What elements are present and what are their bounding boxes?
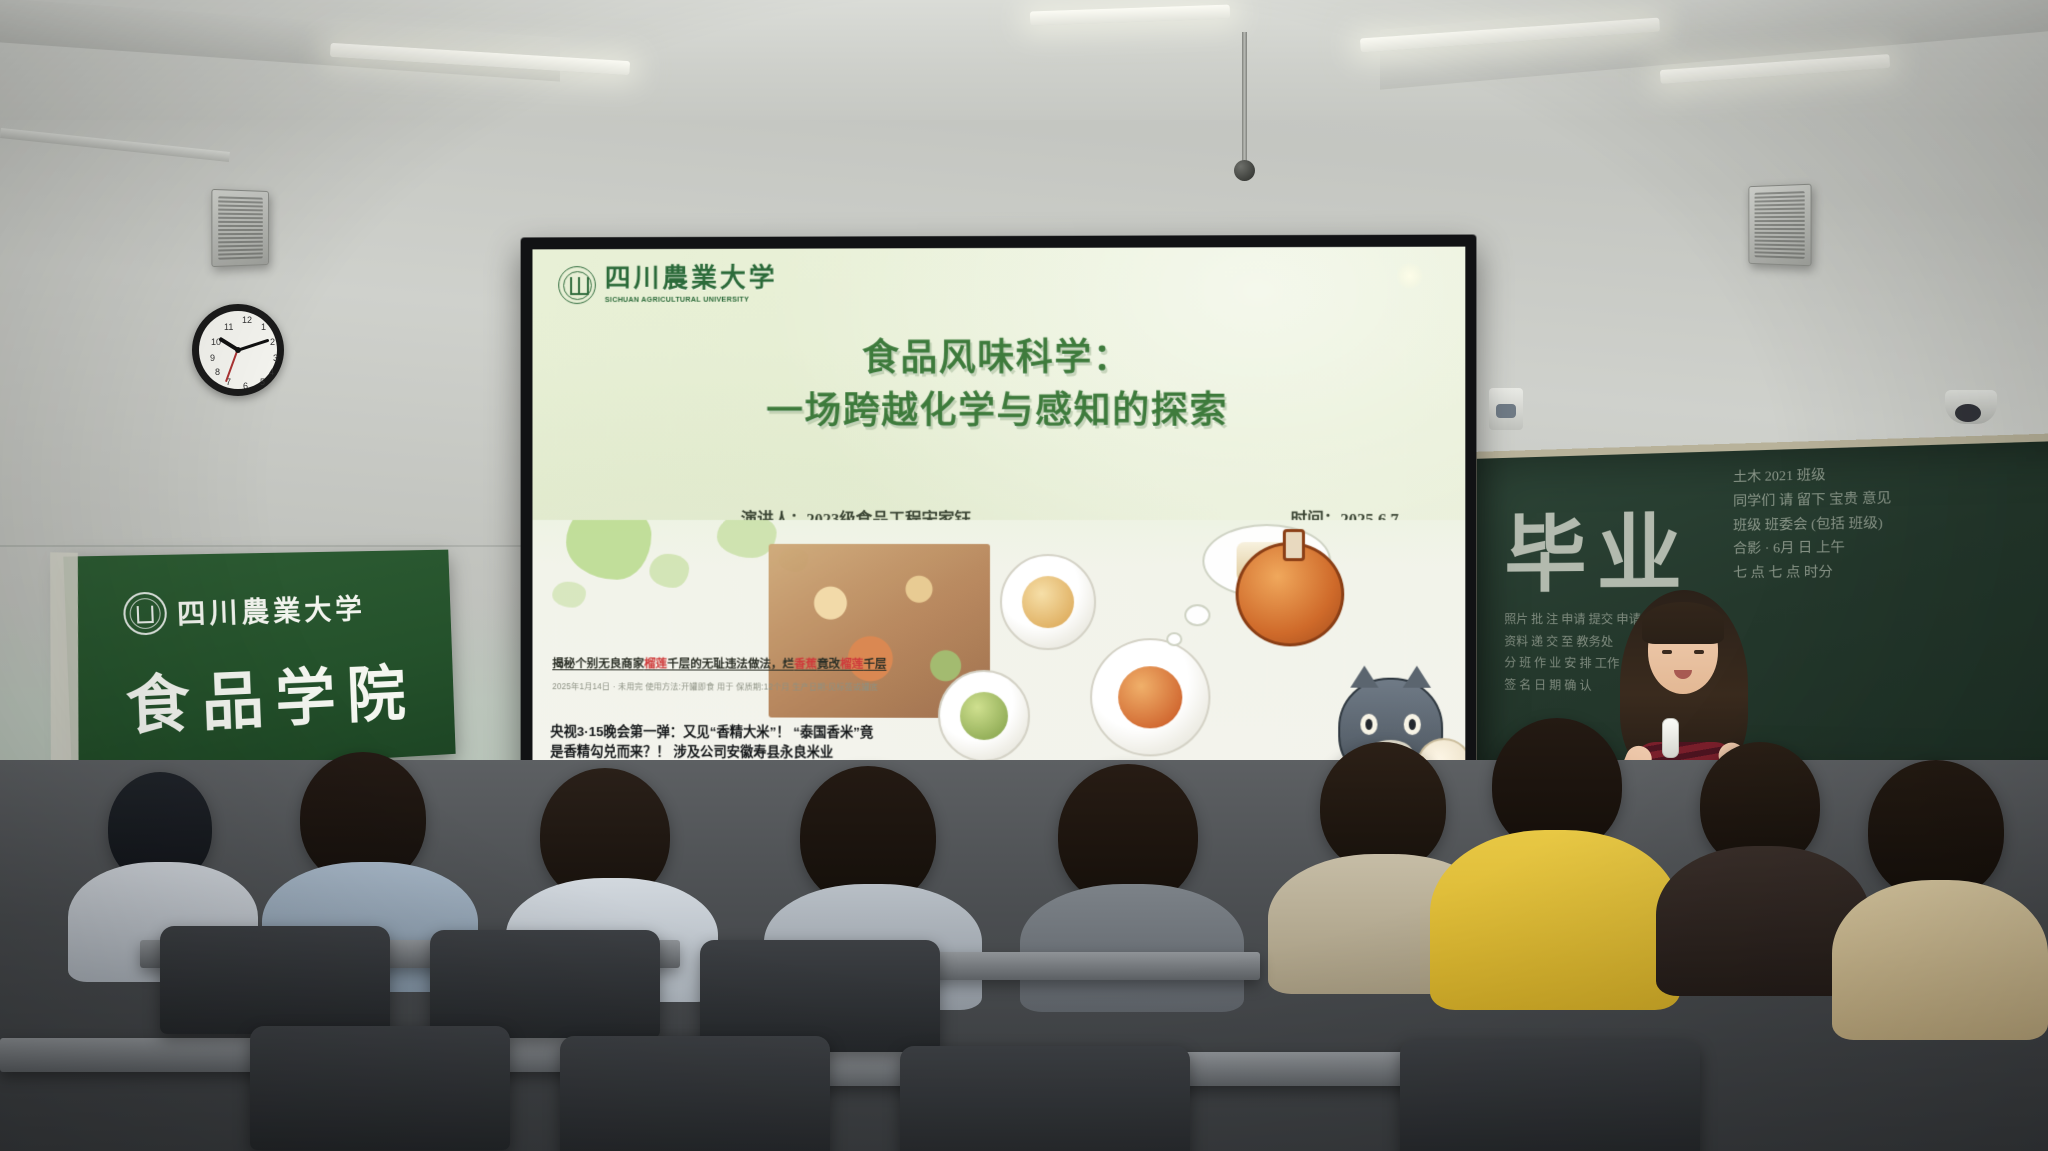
- classroom-scene: 12 1 2 3 4 5 6 7 8 9 10 11 四川: [0, 0, 2048, 1151]
- broccoli-blob-icon: [566, 520, 651, 580]
- clock-num-1: 1: [261, 322, 266, 332]
- cat-ear-right: [1403, 666, 1431, 688]
- wall-speaker-right: [1748, 184, 1811, 267]
- cat-eye-right: [1404, 714, 1421, 735]
- headline-hot-3: 榴莲: [840, 658, 863, 671]
- audience-head: [1868, 760, 2004, 900]
- classroom-chair: [560, 1036, 830, 1151]
- slide-title-line2: 一场跨越化学与感知的探索: [532, 384, 1465, 438]
- security-camera-icon: [1945, 390, 1997, 424]
- banner-logo-row: 四川農業大学: [123, 586, 367, 635]
- classroom-chair: [900, 1046, 1190, 1151]
- microphone-icon: [1662, 718, 1679, 758]
- clock-num-9: 9: [210, 353, 215, 363]
- projection-screen: 四川農業大学 SICHUAN AGRICULTURAL UNIVERSITY 食…: [521, 235, 1477, 800]
- broccoli-blob-icon: [649, 554, 689, 588]
- thought-bubble-small: [1166, 632, 1182, 646]
- food-item: [1022, 576, 1074, 628]
- food-item: [1118, 666, 1182, 728]
- banner-seal-icon: [123, 592, 168, 636]
- wall-sensor-icon: [1489, 388, 1523, 430]
- clock-num-3: 3: [273, 353, 278, 363]
- slide-collage: 揭秘个别无良商家榴莲千层的无耻违法做法，烂香蕉竟改榴莲千层 2025年1月14日…: [532, 520, 1465, 786]
- banner-university-text: 四川農業大学: [176, 587, 366, 632]
- blackboard-notes-right: 土木 2021 班级 同学们 请 留下 宝贵 意见 班级 班委会 (包括 班级)…: [1733, 458, 2016, 585]
- collage-news-block: 央视3·15晚会第一弹：又见“香精大米”！ “泰国香米”竟 是香精勾兑而来？！ …: [550, 722, 968, 763]
- cat-ear-left: [1350, 666, 1378, 688]
- headline-hot-2: 香蕉: [794, 658, 817, 671]
- slide-logo: 四川農業大学 SICHUAN AGRICULTURAL UNIVERSITY: [558, 266, 777, 304]
- audience-shoulders: [1832, 880, 2048, 1040]
- ham-icon: [1236, 542, 1345, 646]
- collage-gray-subtext: 2025年1月14日 · 未用完 使用方法:开罐即食 用于 保质期:12个月 生…: [552, 680, 990, 693]
- presentation-slide: 四川農業大学 SICHUAN AGRICULTURAL UNIVERSITY 食…: [532, 247, 1465, 787]
- slide-logo-en: SICHUAN AGRICULTURAL UNIVERSITY: [605, 295, 778, 304]
- audience-shoulders: [1020, 884, 1244, 1012]
- audience-shoulders: [1430, 830, 1680, 1010]
- headline-part-a: 揭秘个别无良商家: [552, 658, 644, 671]
- university-seal-icon: [558, 266, 596, 304]
- clock-num-2: 2: [270, 337, 275, 347]
- classroom-chair: [430, 930, 660, 1038]
- broccoli-blob-icon: [552, 582, 586, 608]
- headline-hot-1: 榴莲: [644, 658, 667, 671]
- department-banner: 四川農業大学 食品学院: [63, 550, 455, 777]
- collage-red-headline: 揭秘个别无良商家榴莲千层的无耻违法做法，烂香蕉竟改榴莲千层: [552, 657, 980, 673]
- classroom-chair: [160, 926, 390, 1034]
- banner-college-text: 食品学院: [97, 643, 442, 749]
- headline-part-c: 竟改: [817, 658, 840, 671]
- banner-edge-tape: [50, 552, 78, 781]
- clock-num-8: 8: [215, 367, 220, 377]
- headline-part-d: 千层: [863, 658, 886, 671]
- clock-num-11: 11: [224, 322, 233, 332]
- wall-clock: 12 1 2 3 4 5 6 7 8 9 10 11: [192, 304, 284, 396]
- classroom-chair: [250, 1026, 510, 1150]
- slide-title: 食品风味科学： 一场跨越化学与感知的探索: [532, 331, 1465, 437]
- presenter-eye-left: [1662, 650, 1672, 654]
- classroom-chair: [1400, 1040, 1700, 1151]
- speaker-grill-icon: [218, 196, 263, 259]
- clock-num-12: 12: [242, 315, 252, 325]
- news-line-1: 央视3·15晚会第一弹：又见“香精大米”！ “泰国香米”竟: [550, 722, 968, 743]
- clock-center-pin: [235, 347, 241, 353]
- ceiling-projector-mount: [1242, 32, 1247, 162]
- presenter-eye-right: [1694, 650, 1704, 654]
- thought-bubble-small: [1184, 604, 1210, 626]
- clock-num-5: 5: [260, 377, 265, 387]
- audience-head: [1320, 742, 1446, 872]
- slide-logo-cn: 四川農業大学: [605, 266, 778, 292]
- presenter-fringe: [1642, 602, 1724, 644]
- wall-speaker-left: [211, 189, 269, 267]
- slide-title-line1: 食品风味科学：: [862, 337, 1131, 378]
- headline-part-b: 千层的无耻违法做法，烂: [667, 658, 794, 671]
- cat-eye-left: [1360, 714, 1377, 735]
- screen-glare: [1397, 263, 1423, 289]
- clock-num-6: 6: [243, 381, 248, 391]
- presenter-mouth: [1674, 670, 1692, 679]
- speaker-grill-icon: [1755, 191, 1805, 259]
- clock-num-4: 4: [269, 367, 274, 377]
